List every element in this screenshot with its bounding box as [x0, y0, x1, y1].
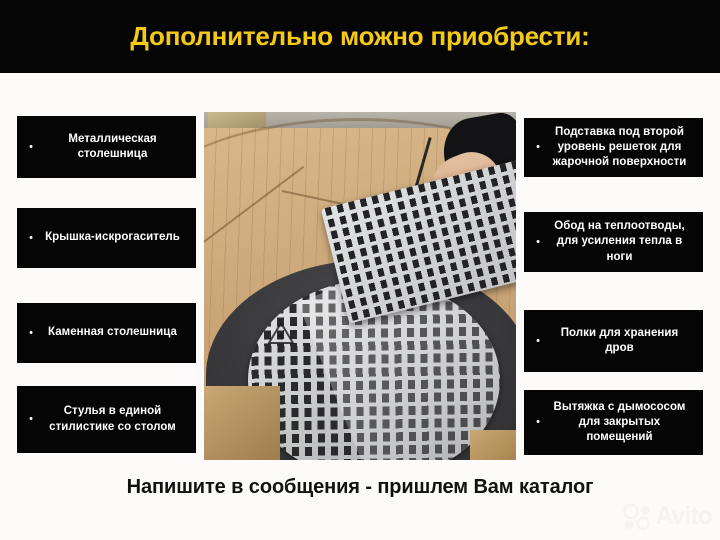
feature-box-left-4[interactable]: • Стулья в единой стилистике со столом	[17, 386, 196, 453]
feature-label: Обод на теплоотводы, для усиления тепла …	[546, 219, 693, 265]
page-title: Дополнительно можно приобрести:	[130, 21, 589, 52]
feature-label: Полки для хранения дров	[546, 326, 693, 356]
feature-label: Крышка-искрогаситель	[39, 230, 186, 245]
feature-box-left-1[interactable]: • Металлическая столешница	[17, 116, 196, 178]
bullet-icon: •	[532, 336, 544, 347]
feature-box-right-2[interactable]: • Обод на теплоотводы, для усиления тепл…	[524, 212, 703, 272]
warning-triangle-icon	[266, 320, 296, 346]
feature-box-right-1[interactable]: • Подставка под второй уровень решеток д…	[524, 118, 703, 177]
bullet-icon: •	[532, 237, 544, 248]
feature-box-left-2[interactable]: • Крышка-искрогаситель	[17, 208, 196, 268]
feature-label: Вытяжка с дымососом для закрытых помещен…	[546, 400, 693, 446]
bullet-icon: •	[25, 414, 37, 425]
bullet-icon: •	[25, 233, 37, 244]
tabletop-corner	[204, 386, 280, 460]
feature-box-right-3[interactable]: • Полки для хранения дров	[524, 310, 703, 372]
bullet-icon: •	[25, 142, 37, 153]
header-bar: Дополнительно можно приобрести:	[0, 0, 720, 73]
bullet-icon: •	[25, 328, 37, 339]
bullet-icon: •	[532, 417, 544, 428]
feature-label: Подставка под второй уровень решеток для…	[546, 125, 693, 171]
feature-label: Металлическая столешница	[39, 132, 186, 162]
tabletop-corner	[470, 430, 516, 460]
feature-label: Стулья в единой стилистике со столом	[39, 404, 186, 434]
call-to-action-text: Напишите в сообщения - пришлем Вам катал…	[0, 476, 720, 499]
avito-logo-icon	[622, 504, 652, 530]
avito-watermark-text: Avito	[655, 502, 712, 531]
feature-box-right-4[interactable]: • Вытяжка с дымососом для закрытых помещ…	[524, 390, 703, 455]
footer-bar: Напишите в сообщения - пришлем Вам катал…	[0, 468, 720, 540]
avito-watermark: Avito	[622, 502, 712, 531]
promo-banner: Дополнительно можно приобрести:	[0, 0, 720, 540]
photo-scene	[204, 112, 516, 460]
feature-label: Каменная столешница	[39, 325, 186, 340]
feature-box-left-3[interactable]: • Каменная столешница	[17, 303, 196, 363]
product-photo	[204, 112, 516, 460]
bullet-icon: •	[532, 142, 544, 153]
